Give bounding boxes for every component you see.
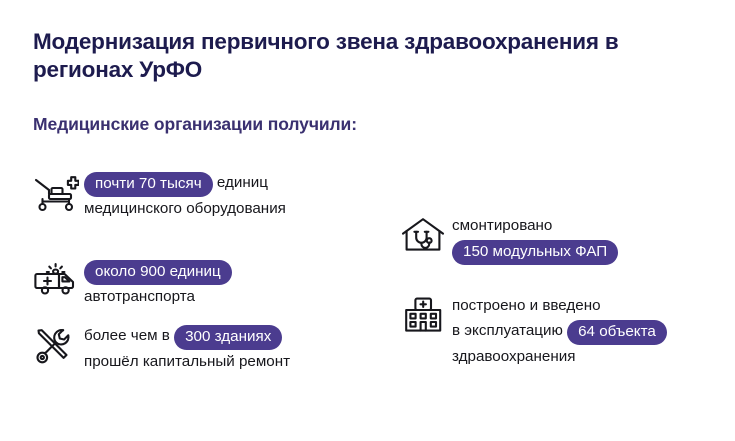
ambulance-icon	[28, 256, 84, 306]
page-title: Модернизация первичного звена здравоохра…	[33, 28, 705, 84]
tools-wrench-screwdriver-icon	[28, 321, 84, 371]
stat-item-fap-text: смонтировано 150 модульных ФАП	[452, 211, 731, 264]
badge-facilities-count: 64 объекта	[567, 320, 667, 345]
page-subtitle: Медицинские организации получили:	[33, 112, 357, 136]
stat-item-transport: около 900 единиц автотранспорта	[28, 256, 358, 309]
stat-item-equipment: почти 70 тысяч единиц медицинского обору…	[28, 168, 358, 221]
fap-description: смонтировано	[452, 213, 731, 238]
badge-repair-count: 300 зданиях	[174, 325, 282, 350]
repair-prefix-label: более чем в	[84, 327, 170, 344]
equipment-unit-label: единиц	[217, 174, 268, 191]
stat-item-facilities-text: построено и введено в эксплуатацию 64 об…	[452, 291, 731, 369]
stat-item-fap: смонтировано 150 модульных ФАП	[396, 211, 731, 264]
facilities-prefix-label: в эксплуатацию	[452, 322, 563, 339]
facilities-line-1: построено и введено	[452, 293, 731, 318]
equipment-description: медицинского оборудования	[84, 196, 358, 221]
infographic-slide: Модернизация первичного звена здравоохра…	[0, 0, 735, 441]
badge-fap-count: 150 модульных ФАП	[452, 240, 618, 265]
stat-item-repair-text: более чем в 300 зданиях прошёл капитальн…	[84, 321, 358, 374]
house-stethoscope-icon	[396, 211, 452, 261]
stat-item-repair: более чем в 300 зданиях прошёл капитальн…	[28, 321, 358, 374]
stat-item-transport-text: около 900 единиц автотранспорта	[84, 256, 358, 309]
badge-equipment-count: почти 70 тысяч	[84, 172, 213, 197]
stat-item-equipment-text: почти 70 тысяч единиц медицинского обору…	[84, 168, 358, 221]
badge-transport-count: около 900 единиц	[84, 260, 232, 285]
stat-item-facilities: построено и введено в эксплуатацию 64 об…	[396, 291, 731, 369]
hospital-building-icon	[396, 291, 452, 341]
repair-description: прошёл капитальный ремонт	[84, 349, 358, 374]
transport-description: автотранспорта	[84, 284, 358, 309]
hospital-gurney-icon	[28, 168, 84, 218]
facilities-line-3: здравоохранения	[452, 344, 731, 369]
